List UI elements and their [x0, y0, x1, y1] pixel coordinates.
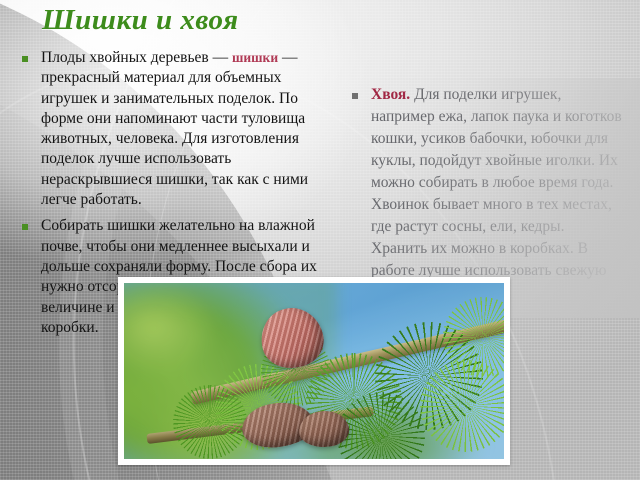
slide-title: Шишки и хвоя [42, 4, 239, 37]
bullet-square-icon [352, 93, 358, 99]
right-bullet-1-text: Хвоя. Для поделки игрушек, например ежа,… [371, 84, 624, 304]
pine-cone-photo [124, 283, 504, 459]
slide-canvas: Шишки и хвоя Плоды хвойных деревьев — ши… [0, 0, 640, 480]
keyword-shishki: шишки [232, 50, 278, 65]
pine-cone-photo-frame [118, 277, 510, 465]
bullet-square-icon [22, 224, 28, 230]
right-bullet-1-body: Для поделки игрушек, например ежа, лапок… [371, 86, 622, 301]
photo-soft-focus-overlay [124, 283, 504, 459]
right-text-fade-overlay: Хвоя. Для поделки игрушек, например ежа,… [352, 84, 624, 304]
left-bullet-1-after: — прекрасный материал для объемных игруш… [41, 49, 308, 208]
list-item: Хвоя. Для поделки игрушек, например ежа,… [352, 84, 624, 304]
list-item: Плоды хвойных деревьев — шишки — прекрас… [22, 48, 322, 210]
bullet-square-icon [22, 56, 28, 62]
left-bullet-1-text: Плоды хвойных деревьев — шишки — прекрас… [41, 48, 322, 210]
keyword-hvoya: Хвоя. [371, 86, 410, 103]
left-bullet-1-before: Плоды хвойных деревьев — [41, 49, 232, 66]
